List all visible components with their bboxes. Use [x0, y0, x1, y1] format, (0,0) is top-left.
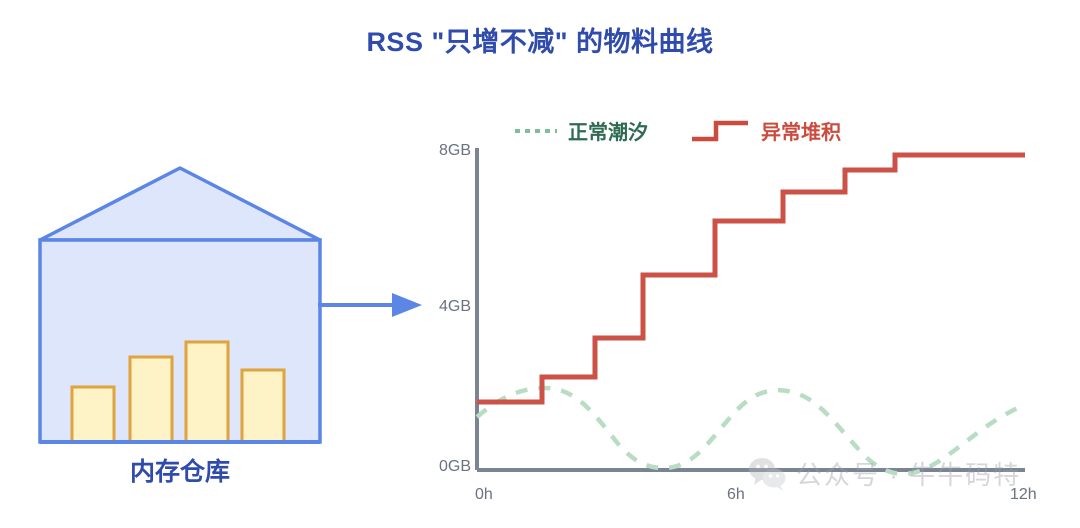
- y-tick-4gb: 4GB: [425, 298, 471, 316]
- memory-warehouse-illustration: 内存仓库: [20, 150, 360, 500]
- warehouse-roof-icon: [40, 168, 320, 240]
- slide-canvas: RSS "只增不减" 的物料曲线 内存仓库: [0, 0, 1080, 528]
- flow-arrow: [318, 285, 438, 325]
- y-tick-8gb: 8GB: [425, 142, 471, 160]
- arrow-right-icon: [318, 285, 438, 325]
- warehouse-graphic: [20, 150, 360, 460]
- normal-tide-curve: [477, 388, 1025, 474]
- y-tick-0gb: 0GB: [425, 458, 471, 476]
- memory-block-3: [186, 342, 228, 442]
- memory-block-4: [242, 370, 284, 442]
- chart-plot-area: [425, 100, 1080, 520]
- x-tick-6h: 6h: [727, 486, 745, 504]
- x-tick-12h: 12h: [1010, 486, 1037, 504]
- warehouse-label: 内存仓库: [20, 452, 340, 488]
- rss-growth-chart: 正常潮汐 异常堆积 8GB 4GB 0GB 0h 6h 12h: [425, 100, 1080, 520]
- x-tick-0h: 0h: [475, 486, 493, 504]
- abnormal-growth-step-line: [477, 155, 1025, 402]
- memory-block-2: [130, 357, 172, 442]
- memory-block-1: [72, 387, 114, 442]
- page-title: RSS "只增不减" 的物料曲线: [0, 20, 1080, 59]
